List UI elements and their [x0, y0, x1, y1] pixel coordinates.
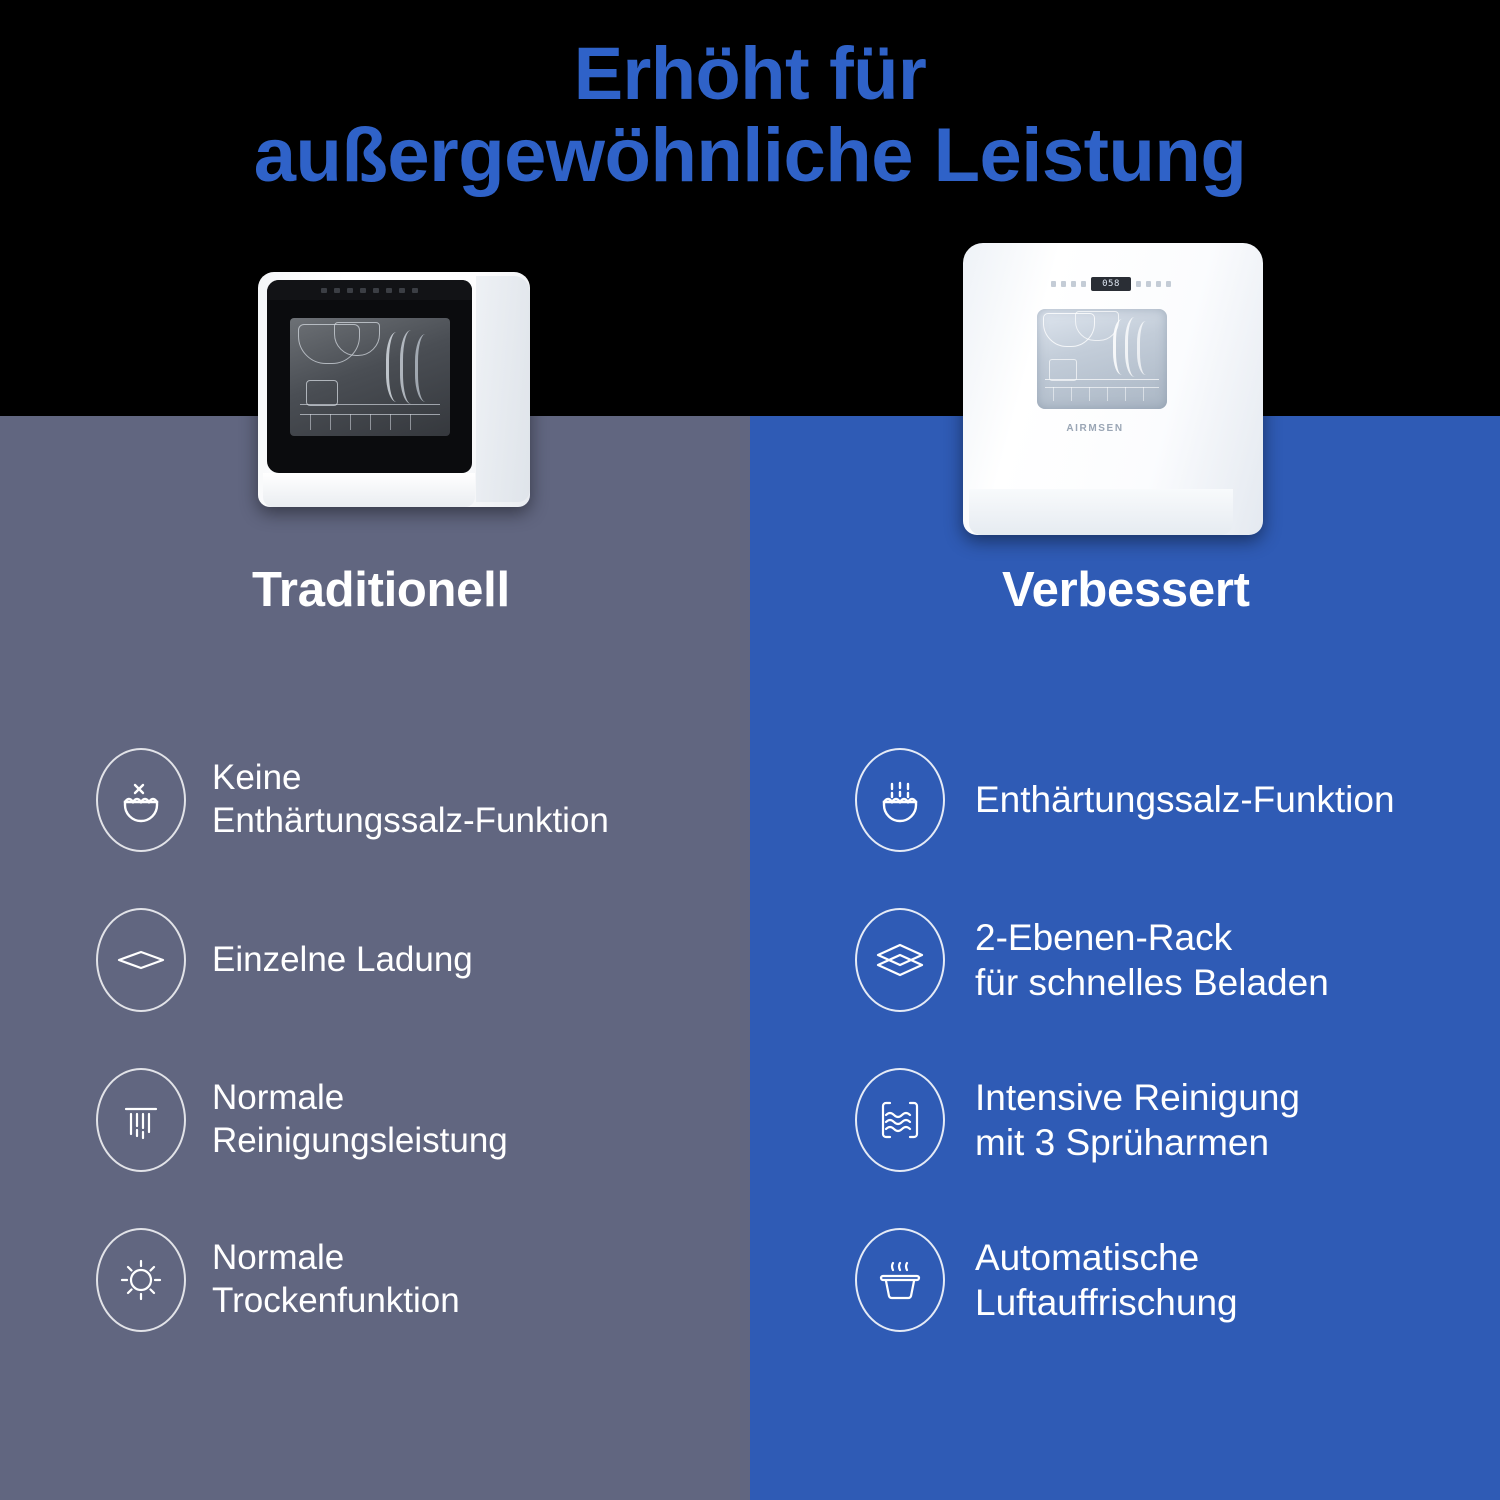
feature-label: Enthärtungssalz-Funktion	[975, 777, 1395, 822]
sun-dry-icon	[96, 1228, 186, 1332]
headline-line-1: Erhöht für	[574, 32, 927, 115]
feature-label: Automatische Luftauffrischung	[975, 1235, 1238, 1325]
dishwasher-base-right	[969, 489, 1233, 535]
feature-label: Normale Reinigungsleistung	[212, 1077, 508, 1162]
feature-label: Normale Trockenfunktion	[212, 1237, 460, 1322]
dishwasher-base-left	[263, 473, 475, 507]
headline-banner: Erhöht für außergewöhnliche Leistung	[0, 0, 1500, 416]
feature-item: Normale Trockenfunktion	[96, 1200, 756, 1360]
column-heading-traditional: Traditionell	[252, 562, 510, 618]
feature-item: Intensive Reinigung mit 3 Sprüharmen	[855, 1040, 1485, 1200]
dishwasher-glass-door-left	[267, 280, 472, 473]
feature-list-improved: Enthärtungssalz-Funktion 2-Ebenen-Rack f…	[855, 720, 1485, 1360]
control-panel-left	[267, 280, 472, 300]
normal-spray-icon	[96, 1068, 186, 1172]
feature-list-traditional: Keine Enthärtungssalz-Funktion Einzelne …	[96, 720, 756, 1360]
auto-air-refresh-icon	[855, 1228, 945, 1332]
led-display: 058	[1091, 277, 1131, 291]
two-layer-rack-icon	[855, 908, 945, 1012]
interior-view-left	[290, 318, 450, 436]
product-image-improved: 058 AIRMSEN	[963, 243, 1263, 535]
feature-item: Einzelne Ladung	[96, 880, 756, 1040]
softener-salt-icon	[855, 748, 945, 852]
feature-item: Keine Enthärtungssalz-Funktion	[96, 720, 756, 880]
column-heading-improved: Verbessert	[1002, 562, 1250, 618]
intensive-wash-icon	[855, 1068, 945, 1172]
feature-item: 2-Ebenen-Rack für schnelles Beladen	[855, 880, 1485, 1040]
feature-label: Einzelne Ladung	[212, 939, 473, 982]
control-panel-right: 058	[1041, 276, 1181, 292]
feature-item: Automatische Luftauffrischung	[855, 1200, 1485, 1360]
feature-item: Normale Reinigungsleistung	[96, 1040, 756, 1200]
feature-label: Keine Enthärtungssalz-Funktion	[212, 757, 609, 842]
brand-logo: AIRMSEN	[963, 423, 1227, 434]
feature-label: Intensive Reinigung mit 3 Sprüharmen	[975, 1075, 1300, 1165]
interior-view-right	[1037, 309, 1167, 409]
feature-item: Enthärtungssalz-Funktion	[855, 720, 1485, 880]
no-softener-salt-icon	[96, 748, 186, 852]
feature-label: 2-Ebenen-Rack für schnelles Beladen	[975, 915, 1329, 1005]
dishwasher-side-left	[476, 276, 530, 502]
product-image-traditional	[258, 272, 530, 507]
headline-line-2: außergewöhnliche Leistung	[0, 115, 1500, 198]
single-layer-rack-icon	[96, 908, 186, 1012]
page-title: Erhöht für außergewöhnliche Leistung	[0, 34, 1500, 197]
